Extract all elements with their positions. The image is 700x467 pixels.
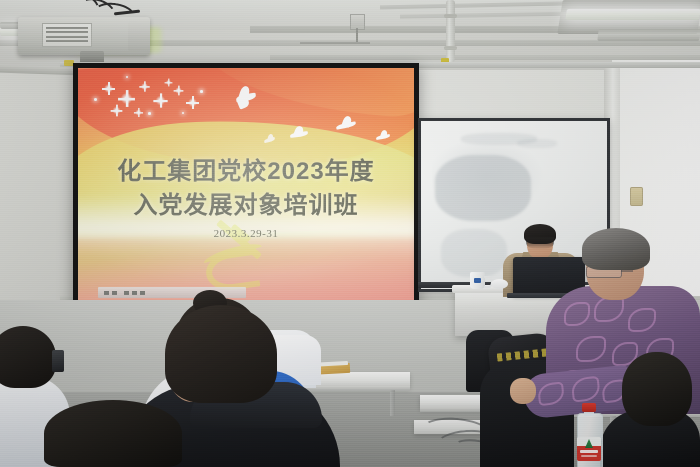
sparkle-icon xyxy=(112,106,120,114)
party-emblem-icon xyxy=(196,228,282,290)
water-bottle xyxy=(577,403,601,467)
dove-icon xyxy=(376,130,393,144)
attendee-hand xyxy=(510,378,536,404)
slide-yellow-wave xyxy=(78,113,414,240)
dove-icon xyxy=(336,116,360,134)
ceiling-pipe xyxy=(446,0,455,62)
ceiling-light-1 xyxy=(565,9,700,20)
bottle-label-subtext xyxy=(581,455,597,457)
slide-title-line1: 化工集团党校2023年度 xyxy=(78,151,414,186)
desk-leg xyxy=(390,390,395,416)
ceiling-projector xyxy=(18,5,168,57)
sparkle-dot xyxy=(182,112,184,114)
sparkle-icon xyxy=(135,109,141,115)
sparkle-icon xyxy=(121,93,133,105)
bottle-label-text xyxy=(580,450,598,453)
sparkle-icon xyxy=(188,98,197,107)
sparkle-icon xyxy=(156,96,166,106)
sparkle-icon xyxy=(166,80,171,85)
sparkle-dot xyxy=(94,98,97,101)
sparkle-icon xyxy=(175,87,182,94)
ceiling-junction-box xyxy=(350,14,365,30)
slide-glow-band xyxy=(78,195,414,256)
student-hoodie-hair xyxy=(165,305,277,403)
ceiling-box-wire xyxy=(356,28,358,42)
classroom-photo: 化工集团党校2023年度 入党发展对象培训班 2023.3.29-31 xyxy=(0,0,700,467)
slide-red-wave xyxy=(78,68,414,179)
projector-label xyxy=(42,23,92,47)
mug-lid xyxy=(491,279,508,289)
pipe-ring-2 xyxy=(444,46,457,50)
sparkle-dot xyxy=(126,76,128,78)
sparkle-dot xyxy=(200,90,203,93)
wall-outlet-icon xyxy=(630,187,643,206)
slide-title-line2: 入党发展对象培训班 xyxy=(78,185,414,220)
slide-bottom-haze xyxy=(78,238,414,304)
sparkle-dot xyxy=(148,112,151,115)
pipe-ring-1 xyxy=(444,14,457,18)
sparkle-icon xyxy=(141,83,148,90)
presenter-hair xyxy=(524,224,556,244)
foreground-head-bottom xyxy=(44,400,182,467)
light-fixture-housing-2 xyxy=(597,29,700,41)
foreground-person-right-head xyxy=(622,352,692,426)
projected-slide: 化工集团党校2023年度 入党发展对象培训班 2023.3.29-31 xyxy=(78,68,414,304)
sparkle-icon xyxy=(104,84,113,93)
bottle-cap xyxy=(582,403,596,412)
ceiling-wire-run xyxy=(300,42,370,44)
slide-red-wave-2 xyxy=(190,68,414,119)
projection-screen[interactable]: 化工集团党校2023年度 入党发展对象培训班 2023.3.29-31 xyxy=(73,63,419,309)
dove-icon xyxy=(234,86,260,108)
mug-logo-icon xyxy=(474,278,481,283)
smartphone[interactable] xyxy=(52,350,64,372)
slide-date: 2023.3.29-31 xyxy=(78,228,414,240)
dove-icon xyxy=(264,134,278,145)
attendee-hair-gray xyxy=(582,228,650,270)
dove-icon xyxy=(290,126,312,142)
